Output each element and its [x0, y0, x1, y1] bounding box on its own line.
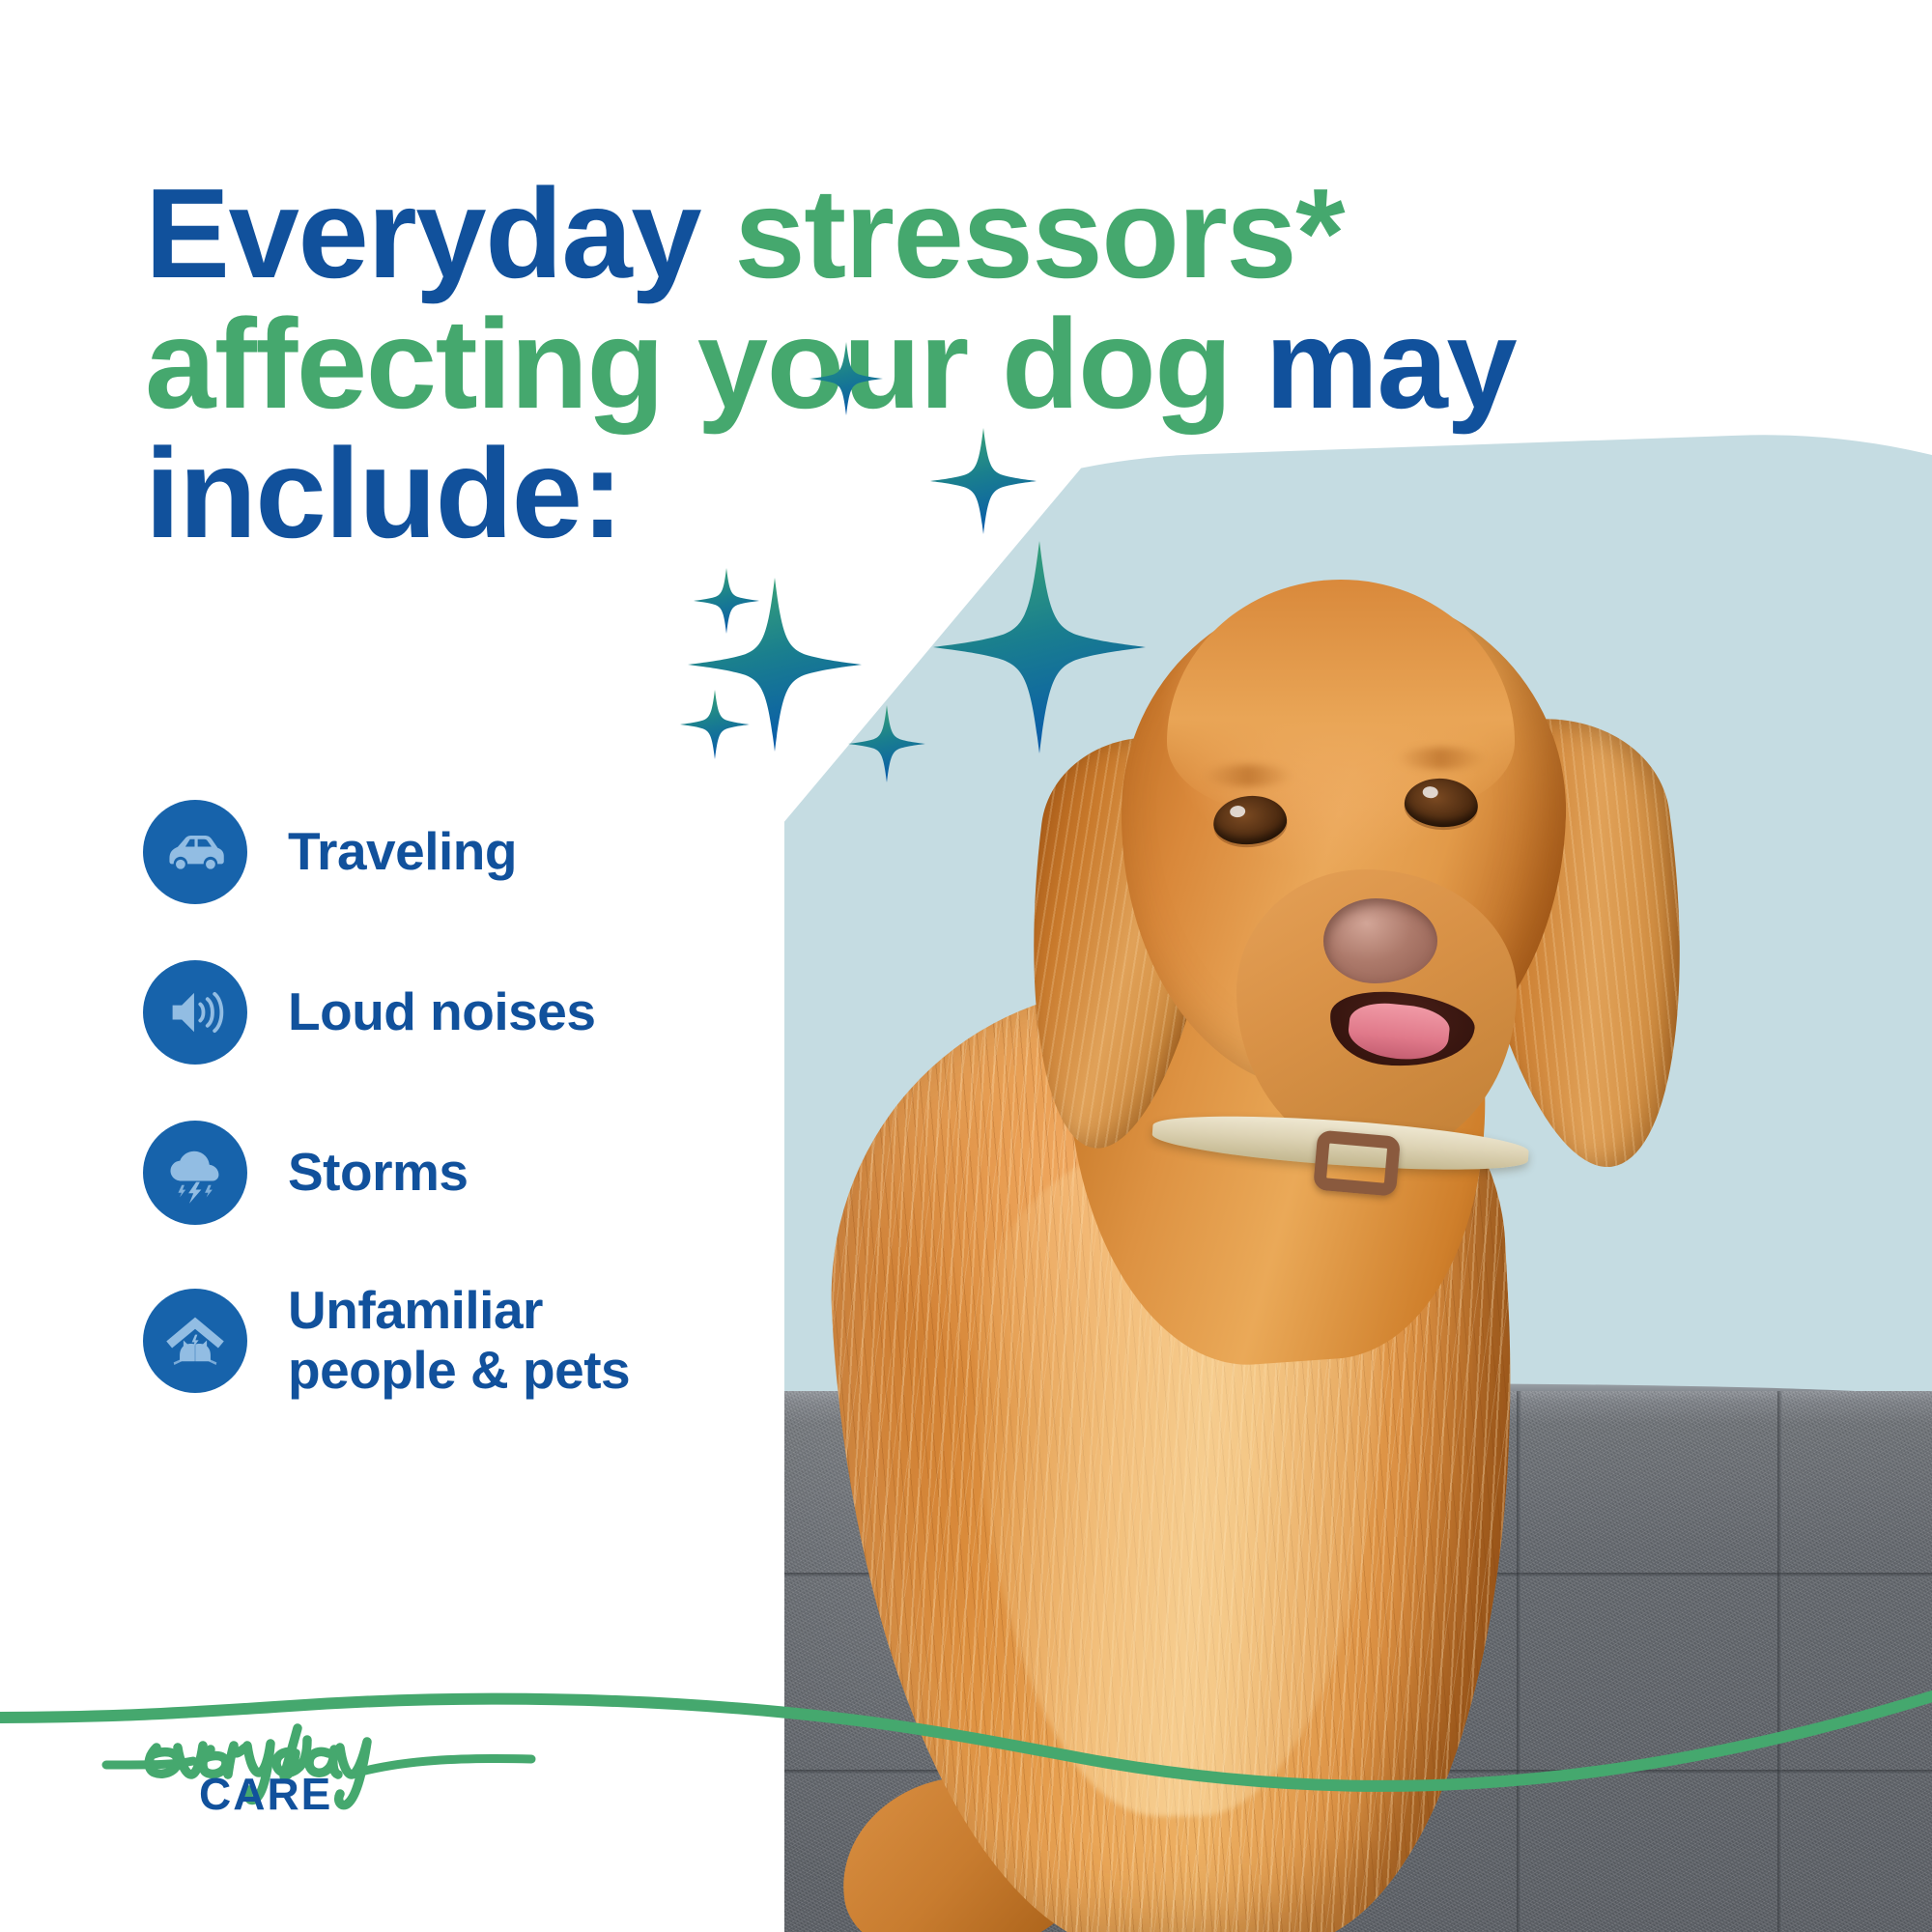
headline-line3: include: [145, 422, 622, 564]
sparkle-cluster [657, 357, 1198, 744]
headline-line2-part2: may [1265, 293, 1517, 435]
list-item: Storms [143, 1121, 761, 1225]
headline-line1-part2: stressors* [734, 162, 1344, 304]
logo-care-text: CARE [199, 1769, 332, 1819]
brand-logo: CARE [135, 1695, 522, 1850]
list-item-label: Storms [288, 1143, 469, 1203]
storm-cloud-icon [143, 1121, 247, 1225]
list-item-label-line1: Unfamiliar [288, 1280, 543, 1340]
list-item-label-line2: people & pets [288, 1340, 630, 1400]
list-item: Traveling [143, 800, 761, 904]
logo-swoosh-left [106, 1761, 193, 1765]
stressor-list: Traveling Loud noises [143, 800, 761, 1400]
collar-buckle [1313, 1129, 1401, 1196]
ad-creative: Everyday stressors* affecting your dog m… [0, 0, 1932, 1932]
list-item: Loud noises [143, 960, 761, 1065]
logo-swoosh-right [365, 1759, 531, 1772]
sparkle-icon [933, 541, 1146, 753]
headline-line-1: Everyday stressors* [145, 169, 1613, 299]
house-pets-icon [143, 1289, 247, 1393]
dog-brow-right [1397, 748, 1486, 769]
headline-line1-part1: Everyday [145, 162, 734, 304]
dog-brow-left [1204, 765, 1293, 786]
list-item-label: Traveling [288, 822, 517, 882]
list-item: Unfamiliar people & pets [143, 1281, 761, 1400]
speaker-icon [143, 960, 247, 1065]
car-icon [143, 800, 247, 904]
sparkle-icon [694, 568, 759, 634]
list-item-label: Unfamiliar people & pets [288, 1281, 630, 1400]
list-item-label: Loud noises [288, 982, 595, 1042]
sparkle-icon [930, 428, 1037, 534]
